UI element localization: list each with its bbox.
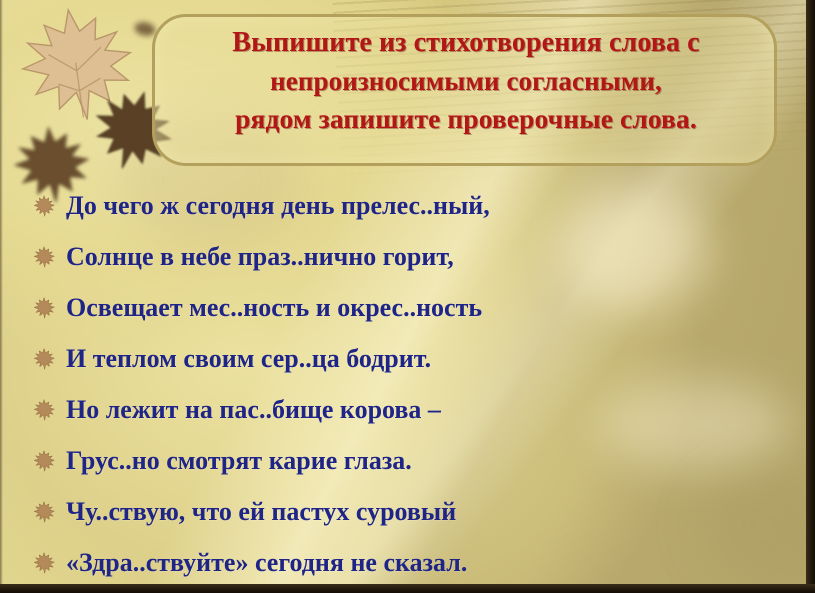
title-line-2: непроизносимыми согласными, bbox=[150, 62, 782, 100]
page-title: Выпишите из стихотворения слова с непрои… bbox=[150, 24, 782, 138]
poem-line-text: До чего ж сегодня день прелес..ный, bbox=[66, 191, 490, 221]
poem-line-text: Но лежит на пас..бище корова – bbox=[66, 395, 441, 425]
maple-leaf-bullet-icon bbox=[32, 297, 56, 319]
poem-line: Грус..но смотрят карие глаза. bbox=[28, 435, 798, 486]
poem-list: До чего ж сегодня день прелес..ный, Солн… bbox=[28, 180, 798, 588]
poem-line: Но лежит на пас..бище корова – bbox=[28, 384, 798, 435]
maple-leaf-bullet-icon bbox=[32, 195, 56, 217]
maple-leaf-bullet-icon bbox=[32, 399, 56, 421]
maple-leaf-bullet-icon bbox=[32, 348, 56, 370]
poem-line-text: Грус..но смотрят карие глаза. bbox=[66, 446, 412, 476]
maple-leaf-bullet-icon bbox=[32, 450, 56, 472]
maple-leaf-bullet-icon bbox=[32, 552, 56, 574]
frame-edge-left bbox=[0, 0, 3, 593]
maple-leaf-bullet-icon bbox=[32, 246, 56, 268]
title-line-1: Выпишите из стихотворения слова с bbox=[150, 24, 782, 62]
poem-line: И теплом своим сер..ца бодрит. bbox=[28, 333, 798, 384]
maple-leaf-bullet-icon bbox=[32, 501, 56, 523]
poem-line-text: И теплом своим сер..ца бодрит. bbox=[66, 344, 431, 374]
frame-edge-right bbox=[806, 0, 815, 593]
poem-line-text: Освещает мес..ность и окрес..ность bbox=[66, 293, 482, 323]
frame-edge-bottom bbox=[0, 584, 815, 593]
slide-canvas: Выпишите из стихотворения слова с непрои… bbox=[0, 0, 815, 593]
poem-line: Чу..ствую, что ей пастух суровый bbox=[28, 486, 798, 537]
poem-line: Освещает мес..ность и окрес..ность bbox=[28, 282, 798, 333]
poem-line-text: «Здра..ствуйте» сегодня не сказал. bbox=[66, 548, 467, 578]
title-line-3: рядом запишите проверочные слова. bbox=[150, 100, 782, 138]
poem-line-text: Чу..ствую, что ей пастух суровый bbox=[66, 497, 456, 527]
poem-line: Солнце в небе праз..нично горит, bbox=[28, 231, 798, 282]
poem-line-text: Солнце в небе праз..нично горит, bbox=[66, 242, 454, 272]
poem-line: «Здра..ствуйте» сегодня не сказал. bbox=[28, 537, 798, 588]
poem-line: До чего ж сегодня день прелес..ный, bbox=[28, 180, 798, 231]
